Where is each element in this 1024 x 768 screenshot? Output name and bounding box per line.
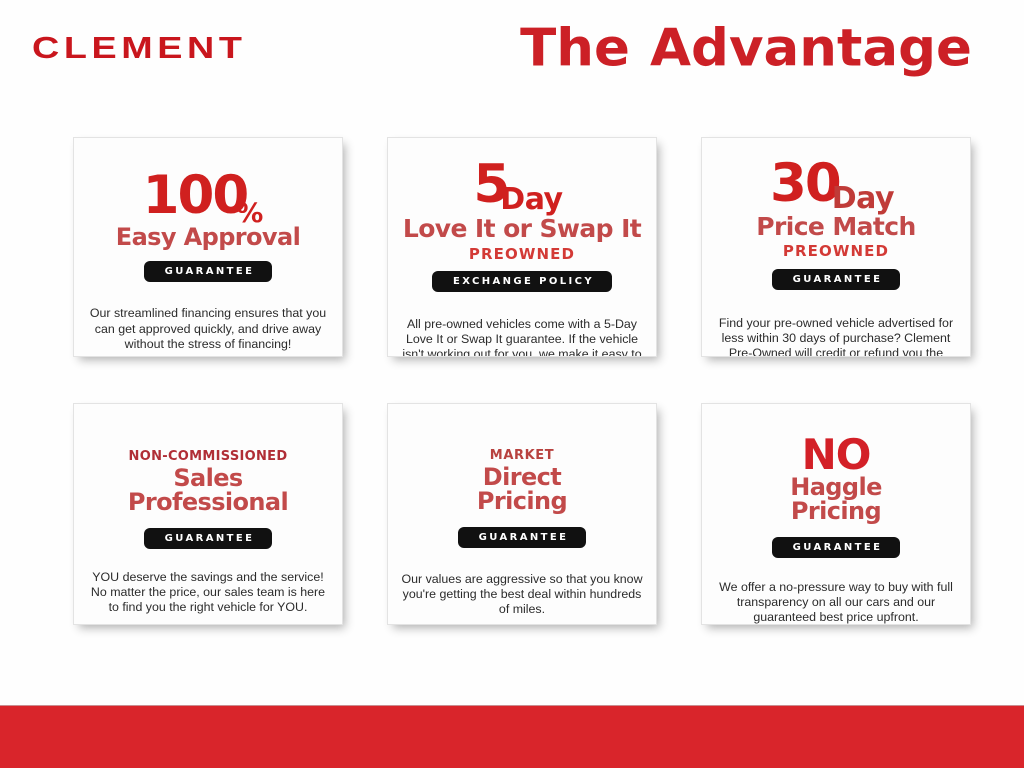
- card-subtitle: HagglePricing: [790, 475, 882, 524]
- card-content: MARKET DirectPricing GUARANTEE Our value…: [388, 404, 656, 617]
- preowned-label: PREOWNED: [783, 242, 889, 260]
- page-header: CLEMENT TheAdvantage: [0, 0, 1024, 100]
- card-sales-professional[interactable]: NON-COMMISSIONED SalesProfessional GUARA…: [73, 403, 343, 625]
- guarantee-badge: GUARANTEE: [144, 261, 273, 282]
- headline-day-label: Day: [832, 181, 894, 216]
- card-direct-pricing[interactable]: MARKET DirectPricing GUARANTEE Our value…: [387, 403, 657, 625]
- card-body-text: We offer a no-pressure way to buy with f…: [702, 580, 970, 625]
- card-content: 5Day Love It or Swap It PREOWNED EXCHANG…: [388, 138, 656, 357]
- footer-accent-bar: [0, 705, 1024, 768]
- card-subtitle-line-2: Professional: [128, 488, 288, 516]
- card-eyebrow: NON-COMMISSIONED: [129, 449, 288, 464]
- guarantee-badge: GUARANTEE: [144, 528, 273, 549]
- card-content: NO HagglePricing GUARANTEE We offer a no…: [702, 404, 970, 625]
- page-title: TheAdvantage: [520, 19, 972, 78]
- page-title-word-2: Advantage: [650, 19, 972, 78]
- headline-number: 100: [143, 165, 248, 226]
- card-content: NON-COMMISSIONED SalesProfessional GUARA…: [74, 404, 342, 615]
- card-body-text: All pre-owned vehicles come with a 5-Day…: [388, 317, 656, 358]
- card-subtitle: Love It or Swap It: [403, 216, 641, 242]
- guarantee-badge: GUARANTEE: [772, 537, 901, 558]
- headline-number: 30: [770, 153, 840, 214]
- card-price-match[interactable]: 30Day Price Match PREOWNED GUARANTEE Fin…: [701, 137, 971, 357]
- headline-word: NO: [802, 430, 871, 479]
- card-headline: 30Day: [770, 157, 902, 210]
- exchange-policy-badge: EXCHANGE POLICY: [432, 271, 612, 292]
- card-no-haggle-pricing[interactable]: NO HagglePricing GUARANTEE We offer a no…: [701, 403, 971, 625]
- card-body-text: Our streamlined financing ensures that y…: [74, 306, 342, 351]
- preowned-label: PREOWNED: [469, 245, 575, 263]
- card-headline: 100%: [143, 169, 274, 222]
- card-subtitle: SalesProfessional: [128, 466, 288, 515]
- card-love-it-or-swap-it[interactable]: 5Day Love It or Swap It PREOWNED EXCHANG…: [387, 137, 657, 357]
- card-body-text: Find your pre-owned vehicle advertised f…: [702, 316, 970, 358]
- card-body-text: YOU deserve the savings and the service!…: [74, 570, 342, 615]
- card-easy-approval[interactable]: 100% Easy Approval GUARANTEE Our streaml…: [73, 137, 343, 357]
- card-subtitle: Price Match: [756, 214, 915, 240]
- card-subtitle-line-2: Pricing: [791, 497, 881, 525]
- advantage-slide: CLEMENT TheAdvantage 100% Easy Approval …: [0, 0, 1024, 768]
- card-subtitle: DirectPricing: [477, 465, 567, 514]
- card-eyebrow: MARKET: [490, 448, 554, 463]
- headline-day-label: Day: [500, 182, 562, 217]
- card-content: 100% Easy Approval GUARANTEE Our streaml…: [74, 138, 342, 352]
- card-subtitle: Easy Approval: [116, 225, 300, 249]
- card-subtitle-line-2: Pricing: [477, 487, 567, 515]
- card-body-text: Our values are aggressive so that you kn…: [388, 572, 656, 617]
- guarantee-badge: GUARANTEE: [458, 527, 587, 548]
- page-title-word-1: The: [520, 19, 630, 78]
- card-headline: 5Day: [473, 158, 570, 211]
- card-headline: NO: [802, 435, 871, 475]
- advantage-card-grid: 100% Easy Approval GUARANTEE Our streaml…: [73, 137, 971, 625]
- percent-symbol: %: [236, 198, 262, 229]
- guarantee-badge: GUARANTEE: [772, 269, 901, 290]
- card-content: 30Day Price Match PREOWNED GUARANTEE Fin…: [702, 138, 970, 357]
- clement-logo[interactable]: CLEMENT: [32, 31, 247, 65]
